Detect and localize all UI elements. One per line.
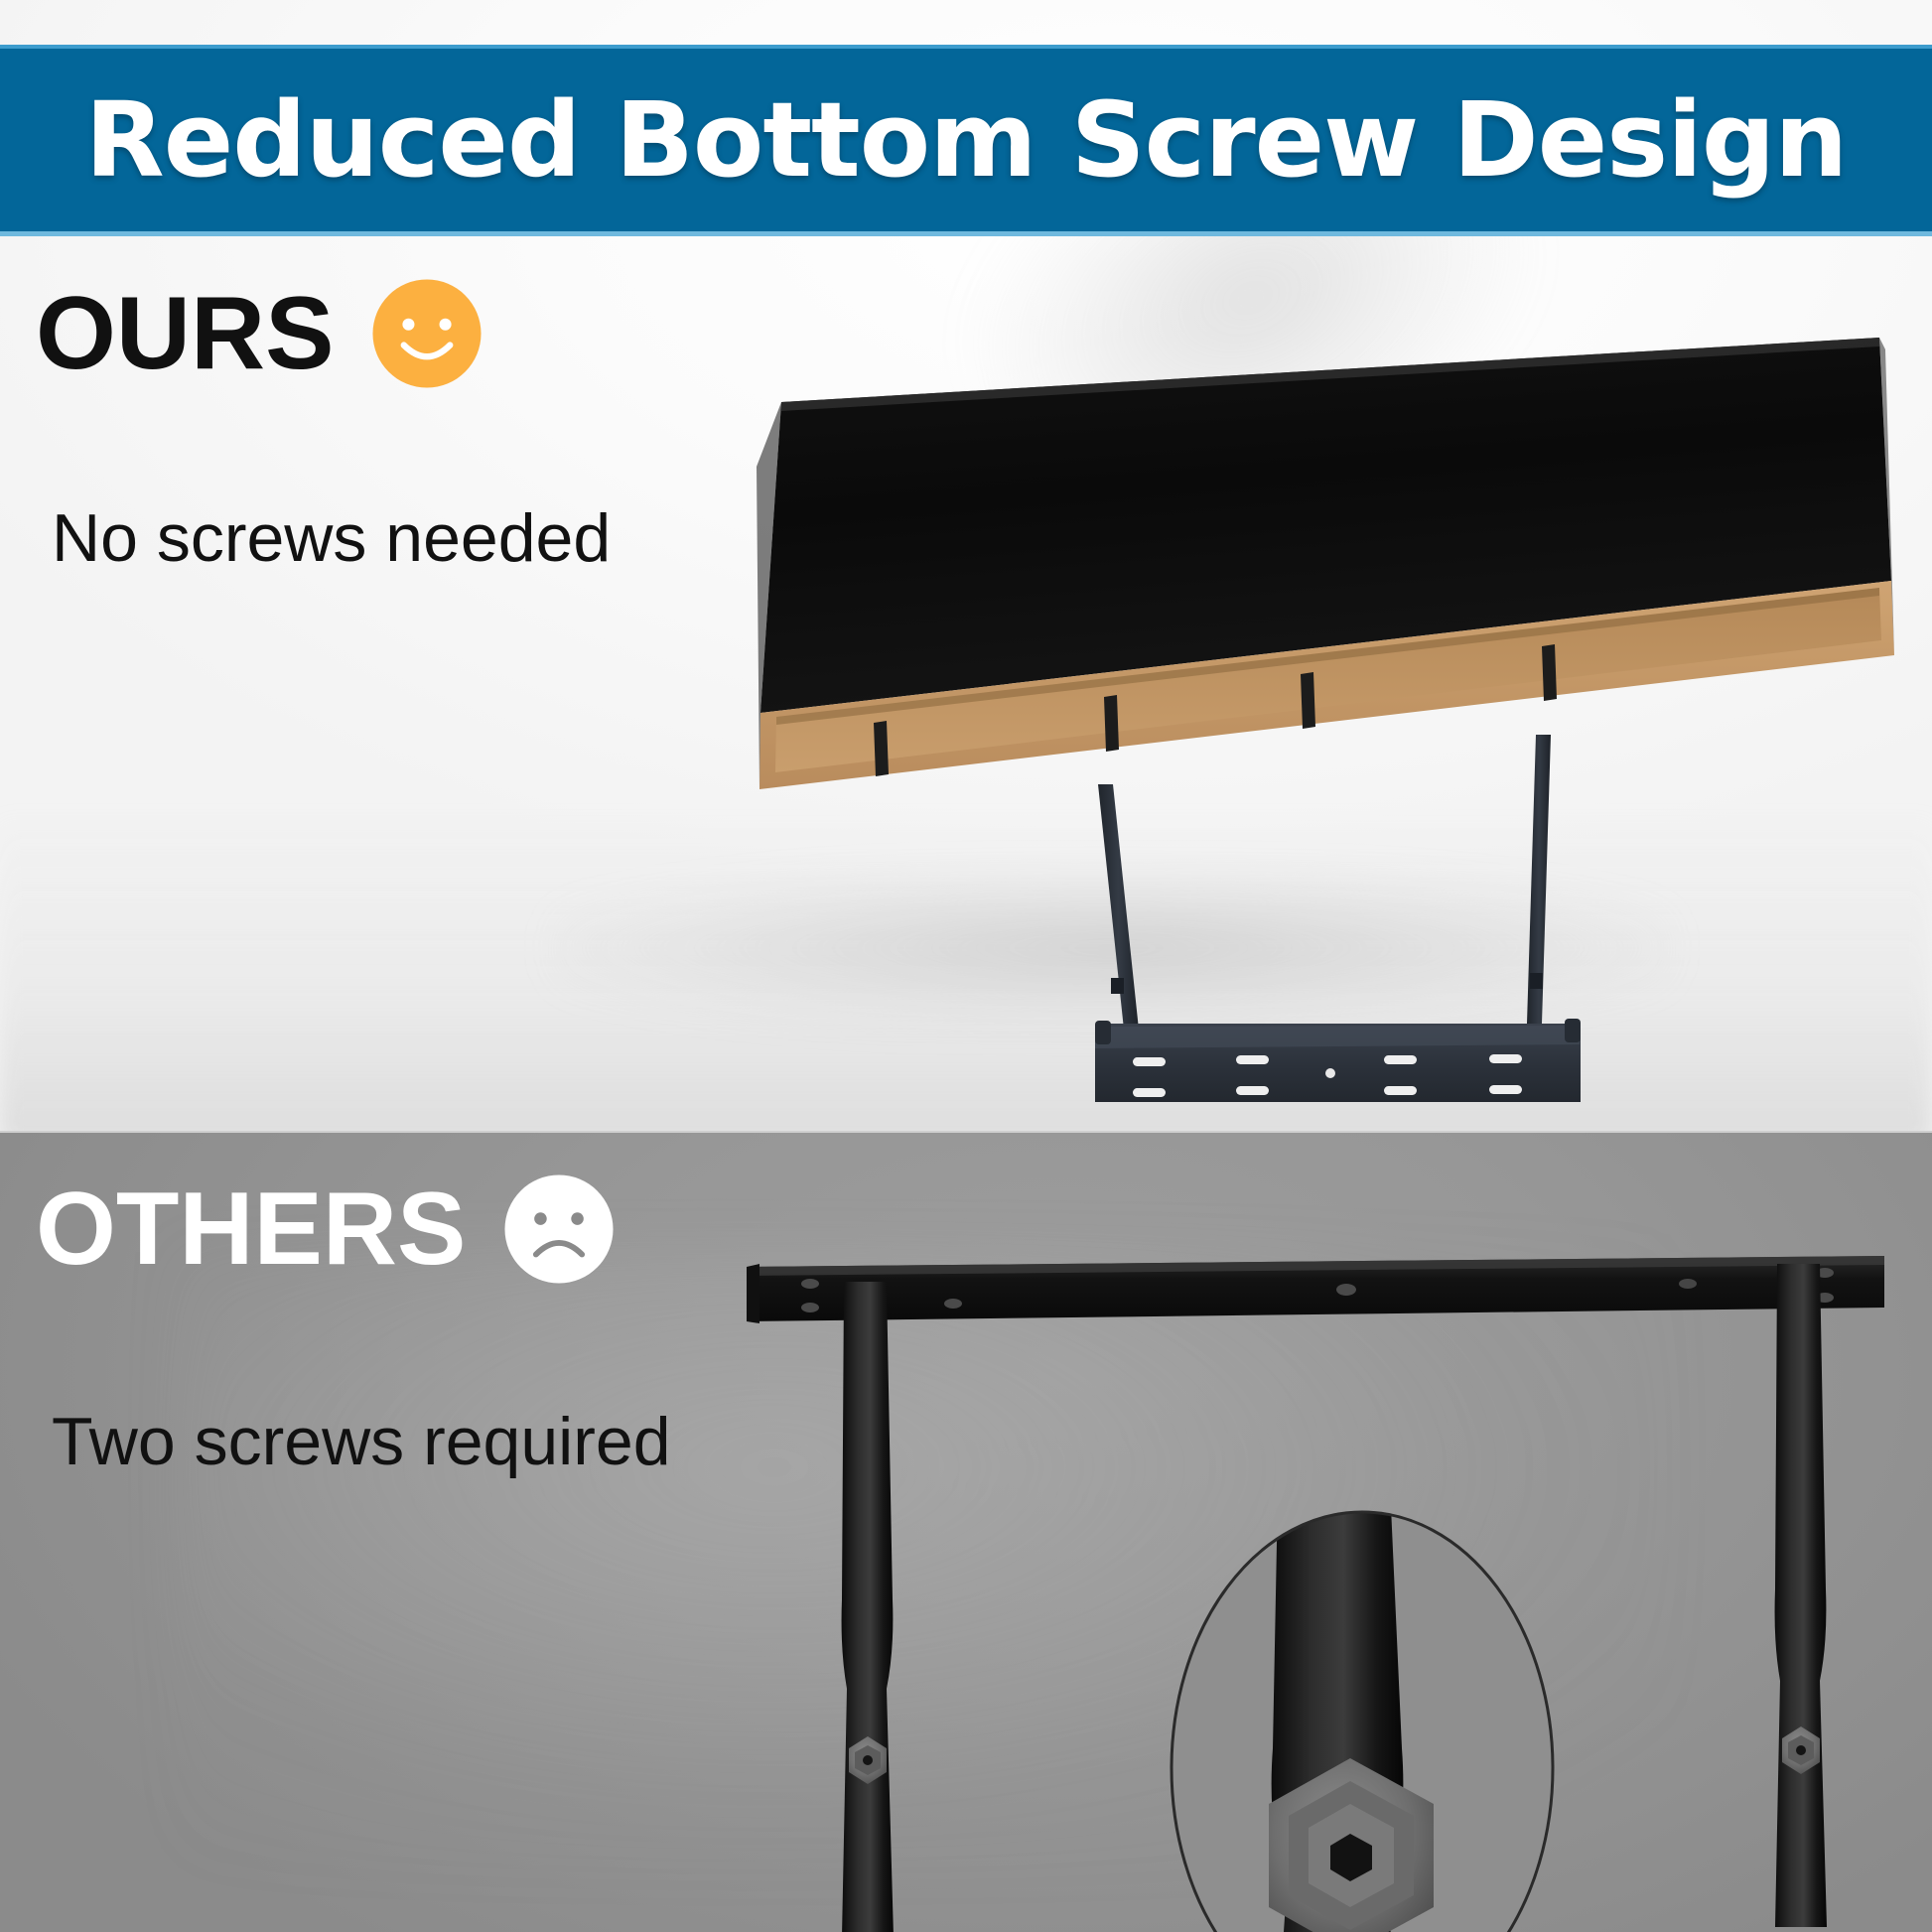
- bracket-slot: [1384, 1086, 1417, 1095]
- others-bar-hole: [801, 1303, 819, 1312]
- others-label: OTHERS: [36, 1177, 466, 1281]
- bracket-plate-left-cap: [1095, 1021, 1111, 1044]
- bracket-slot: [1489, 1054, 1522, 1063]
- others-bar-hole: [1336, 1284, 1356, 1296]
- ours-label-row: OURS: [36, 276, 484, 391]
- bracket-slot: [1133, 1057, 1166, 1066]
- others-left-leg: [842, 1282, 894, 1932]
- desktop-notch: [1301, 672, 1315, 729]
- bracket-center-hole: [1325, 1068, 1335, 1078]
- bracket-slot: [1489, 1085, 1522, 1094]
- ours-caption: No screws needed: [52, 504, 611, 572]
- sad-face-icon: [501, 1172, 617, 1287]
- ours-label: OURS: [36, 282, 334, 385]
- bracket-slot: [1384, 1055, 1417, 1064]
- others-caption: Two screws required: [52, 1408, 671, 1475]
- bracket-left-arm-joint: [1111, 978, 1124, 994]
- others-right-leg: [1775, 1264, 1827, 1927]
- screw-magnifier-circle: [1172, 1441, 1553, 1932]
- header-banner: Reduced Bottom Screw Design: [0, 45, 1932, 236]
- bracket-slot: [1236, 1055, 1269, 1064]
- bracket-right-arm-joint: [1530, 973, 1543, 989]
- infographic-page: OURS No screws needed Reduced Bottom Scr…: [0, 0, 1932, 1932]
- page-title: Reduced Bottom Screw Design: [85, 88, 1848, 192]
- others-top-bar-left-chamfer: [747, 1264, 759, 1323]
- bracket-slot: [1236, 1086, 1269, 1095]
- desktop-notch: [1104, 695, 1119, 752]
- smiley-face-icon: [369, 276, 484, 391]
- others-bar-hole: [944, 1299, 962, 1309]
- bracket-slot: [1133, 1088, 1166, 1097]
- others-bar-hole: [1679, 1279, 1697, 1289]
- bracket-plate-edge-highlight: [1095, 1026, 1580, 1048]
- desktop-notch: [1542, 644, 1557, 701]
- bracket-plate-right-cap: [1565, 1019, 1581, 1042]
- others-panel: OTHERS Two screws required: [0, 1133, 1932, 1932]
- others-label-row: OTHERS: [36, 1172, 617, 1287]
- others-bar-hole: [801, 1279, 819, 1289]
- desktop-notch: [874, 721, 889, 776]
